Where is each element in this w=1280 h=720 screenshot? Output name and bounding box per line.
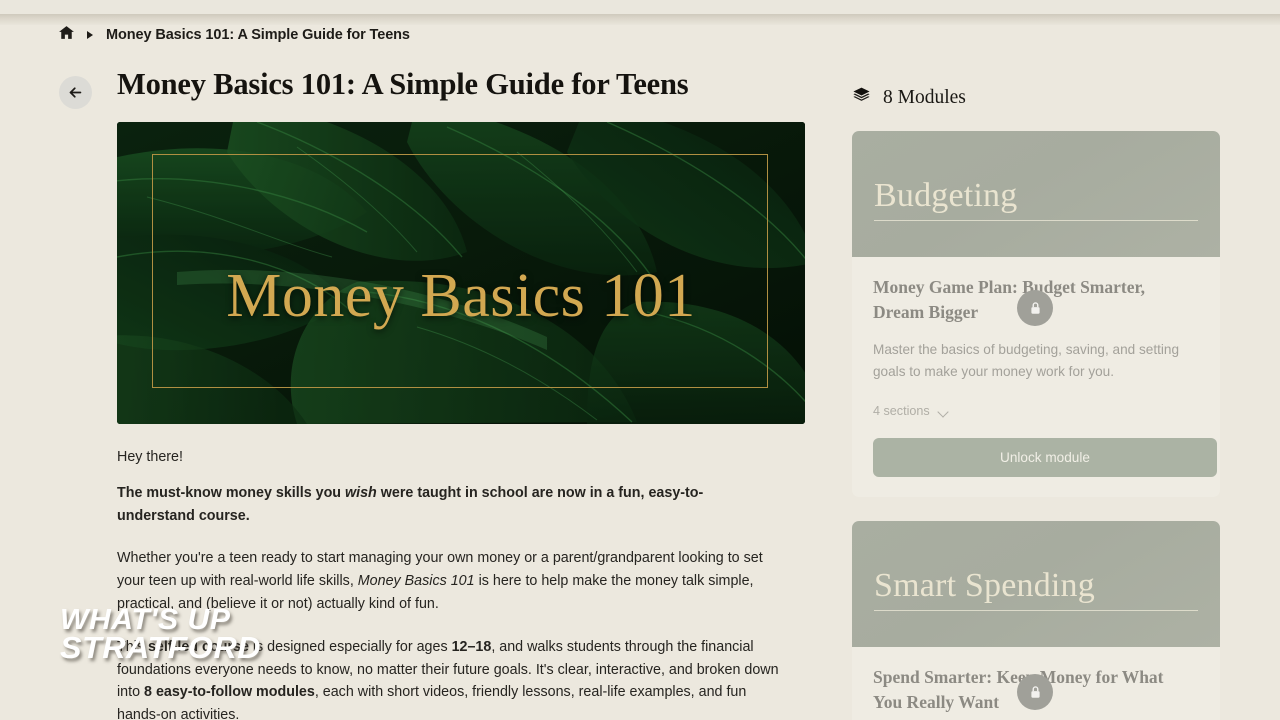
modules-sidebar: 8 Modules Budgeting Money Game Plan: Bud…: [852, 84, 1220, 720]
page-title: Money Basics 101: A Simple Guide for Tee…: [117, 68, 807, 102]
course-hero-banner: Money Basics 101: [117, 122, 805, 424]
layers-icon: [852, 86, 871, 110]
module-banner: Smart Spending: [852, 521, 1220, 647]
arrow-left-icon: [67, 84, 84, 101]
module-lock-badge: [1017, 674, 1053, 710]
home-icon[interactable]: [58, 24, 75, 46]
chevron-down-icon: [939, 408, 950, 414]
back-button[interactable]: [59, 76, 92, 109]
paragraph-lead: The must-know money skills you wish were…: [117, 482, 781, 527]
module-card[interactable]: Budgeting Money Game Plan: Budget Smarte…: [852, 131, 1220, 497]
broadcast-watermark: WHAT'S UP STRATFORD: [60, 607, 261, 663]
module-description: Master the basics of budgeting, saving, …: [873, 339, 1205, 383]
unlock-module-button[interactable]: Unlock module: [873, 438, 1217, 477]
modules-count-label: 8 Modules: [883, 87, 966, 109]
module-body: Money Game Plan: Budget Smarter, Dream B…: [852, 257, 1220, 497]
module-lock-badge: [1017, 290, 1053, 326]
module-banner-rule: [874, 220, 1198, 221]
paragraph-greeting: Hey there!: [117, 446, 781, 469]
module-banner-title: Budgeting: [874, 179, 1017, 213]
breadcrumb: Money Basics 101: A Simple Guide for Tee…: [58, 24, 410, 46]
module-card[interactable]: Smart Spending Spend Smarter: Keep Money…: [852, 521, 1220, 720]
module-sections-toggle[interactable]: 4 sections: [873, 404, 1199, 418]
p3-c: is designed especially for ages: [249, 639, 452, 655]
modules-header: 8 Modules: [852, 84, 1220, 112]
chevron-right-icon: [87, 31, 93, 39]
module-banner: Budgeting: [852, 131, 1220, 257]
lock-icon: [1027, 300, 1044, 317]
hero-title: Money Basics 101: [117, 265, 805, 327]
p2-emphasis: Money Basics 101: [358, 573, 475, 589]
course-description: Hey there! The must-know money skills yo…: [117, 446, 781, 720]
breadcrumb-current[interactable]: Money Basics 101: A Simple Guide for Tee…: [106, 27, 410, 43]
lead-emphasis: wish: [345, 485, 377, 501]
p3-bold-ages: 12–18: [452, 639, 492, 655]
browser-top-band: [0, 0, 1280, 14]
p3-bold-modules: 8 easy-to-follow modules: [144, 684, 315, 700]
module-banner-rule: [874, 610, 1198, 611]
page-root: Money Basics 101: A Simple Guide for Tee…: [0, 0, 1280, 720]
watermark-line-2: STRATFORD: [60, 634, 261, 663]
module-sections-label: 4 sections: [873, 404, 930, 418]
module-banner-title: Smart Spending: [874, 569, 1095, 603]
lead-pre: The must-know money skills you: [117, 485, 345, 501]
module-body: Spend Smarter: Keep Money for What You R…: [852, 647, 1220, 720]
lock-icon: [1027, 684, 1044, 701]
